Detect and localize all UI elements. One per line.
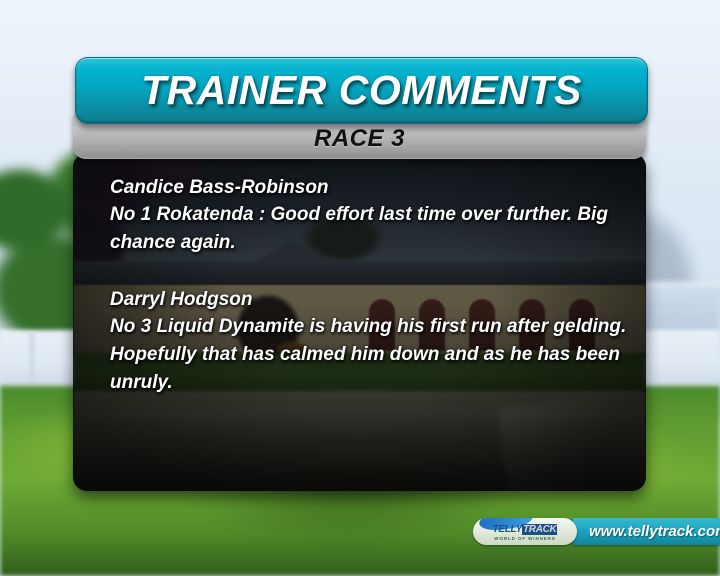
trainer-name: Candice Bass-Robinson (110, 175, 634, 201)
logo-word-first: TELLY (493, 524, 522, 535)
background-rail-post (30, 332, 34, 388)
trainer-comment-text: No 1 Rokatenda : Good effort last time o… (110, 201, 634, 257)
website-url-text: www.tellytrack.com (589, 523, 720, 540)
page-title: TRAINER COMMENTS (141, 67, 582, 114)
trainer-comments-panel: TRAINER COMMENTS RACE 3 (73, 57, 646, 491)
broadcast-graphic-screen: TRAINER COMMENTS RACE 3 (0, 0, 720, 576)
panel-title-bar: TRAINER COMMENTS (75, 57, 648, 124)
comments-list: Candice Bass-Robinson No 1 Rokatenda : G… (110, 175, 634, 397)
footer-branding: TELLYTRACK WORLD OF WINNERS www.tellytra… (473, 518, 720, 545)
logo-word-second: TRACK (522, 524, 558, 535)
race-label: RACE 3 (314, 125, 405, 153)
comment-entry: Candice Bass-Robinson No 1 Rokatenda : G… (110, 175, 634, 257)
website-url-pill[interactable]: www.tellytrack.com (573, 518, 720, 545)
logo-tagline: WORLD OF WINNERS (494, 536, 555, 542)
trainer-comment-text: No 3 Liquid Dynamite is having his first… (110, 313, 634, 397)
tellytrack-logo: TELLYTRACK WORLD OF WINNERS (473, 518, 577, 545)
logo-wordmark: TELLYTRACK (493, 525, 558, 535)
trainer-name: Darryl Hodgson (110, 287, 634, 313)
comments-content-panel: Candice Bass-Robinson No 1 Rokatenda : G… (73, 153, 646, 491)
comment-entry: Darryl Hodgson No 3 Liquid Dynamite is h… (110, 287, 634, 397)
